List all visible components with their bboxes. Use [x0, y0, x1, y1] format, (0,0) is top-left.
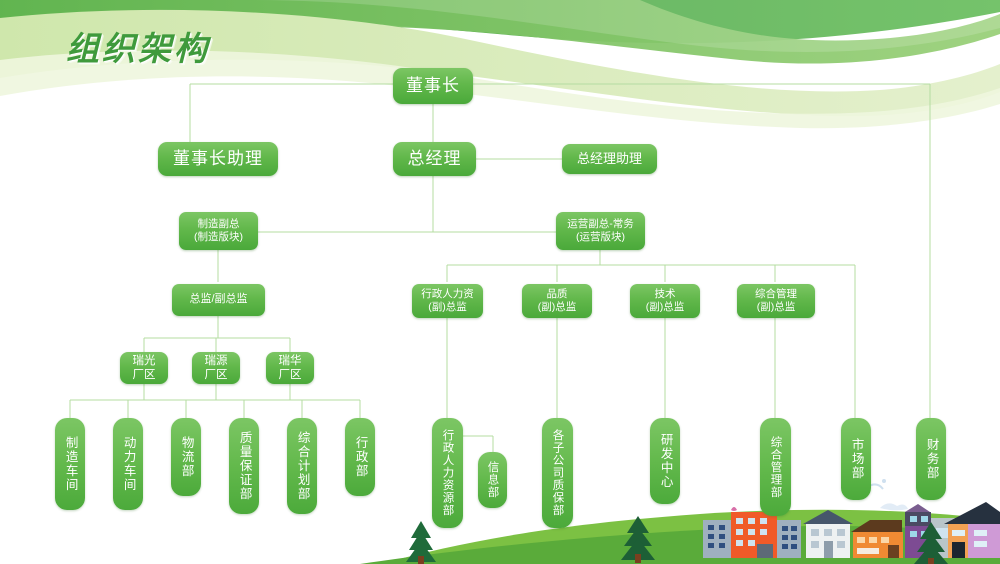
dept-general-management-label: 综合管理部	[769, 436, 781, 499]
node-director-hr-admin[interactable]: 行政人力资 (副)总监	[412, 284, 483, 318]
dept-marketing[interactable]: 市场部	[841, 418, 871, 500]
dept-logistics-label: 物流部	[179, 436, 192, 478]
dept-manufacturing-workshop[interactable]: 制造车间	[55, 418, 85, 510]
dept-quality-assurance-label: 质量保证部	[237, 431, 250, 501]
node-plant-ruiyuan[interactable]: 瑞源 厂区	[192, 352, 240, 384]
dept-general-management[interactable]: 综合管理部	[760, 418, 791, 516]
dept-subsidiary-qa-label: 各子公司质保部	[551, 429, 563, 517]
dept-hr-administration-label: 行政人力资源部	[441, 429, 453, 517]
dept-quality-assurance[interactable]: 质量保证部	[229, 418, 259, 514]
node-plant-ruiguang[interactable]: 瑞光 厂区	[120, 352, 168, 384]
node-manufacturing-vp[interactable]: 制造副总 (制造版块)	[179, 212, 258, 250]
node-general-manager[interactable]: 总经理	[393, 142, 476, 176]
dept-rnd-center-label: 研发中心	[658, 433, 671, 489]
dept-integrated-planning[interactable]: 综合计划部	[287, 418, 317, 514]
dept-information-label: 信息部	[486, 461, 498, 499]
dept-finance[interactable]: 财务部	[916, 418, 946, 500]
node-chairman-assistant[interactable]: 董事长助理	[158, 142, 278, 176]
dept-power-workshop[interactable]: 动力车间	[113, 418, 143, 510]
node-director-quality[interactable]: 品质 (副)总监	[522, 284, 592, 318]
dept-administration[interactable]: 行政部	[345, 418, 375, 496]
dept-subsidiary-qa[interactable]: 各子公司质保部	[542, 418, 573, 528]
node-chairman[interactable]: 董事长	[393, 68, 473, 104]
page-title: 组织架构	[66, 22, 210, 70]
node-operations-vp[interactable]: 运营副总-常务 (运营版块)	[556, 212, 645, 250]
node-director-deputy-director[interactable]: 总监/副总监	[172, 284, 265, 316]
dept-rnd-center[interactable]: 研发中心	[650, 418, 680, 504]
dept-administration-label: 行政部	[353, 436, 366, 478]
node-plant-ruihua[interactable]: 瑞华 厂区	[266, 352, 314, 384]
dept-manufacturing-workshop-label: 制造车间	[63, 436, 76, 492]
dept-finance-label: 财务部	[924, 438, 937, 480]
node-gm-assistant[interactable]: 总经理助理	[562, 144, 657, 174]
dept-integrated-planning-label: 综合计划部	[295, 431, 308, 501]
dept-information[interactable]: 信息部	[478, 452, 507, 508]
dept-logistics[interactable]: 物流部	[171, 418, 201, 496]
dept-marketing-label: 市场部	[849, 438, 862, 480]
dept-power-workshop-label: 动力车间	[121, 436, 134, 492]
node-director-technology[interactable]: 技术 (副)总监	[630, 284, 700, 318]
org-chart-canvas: 组织架构 董事长 董事长助理 总经理 总经理助理 制造副总 (制造版块) 运营副…	[0, 0, 1000, 564]
dept-hr-administration[interactable]: 行政人力资源部	[432, 418, 463, 528]
node-director-general-management[interactable]: 综合管理 (副)总监	[737, 284, 815, 318]
